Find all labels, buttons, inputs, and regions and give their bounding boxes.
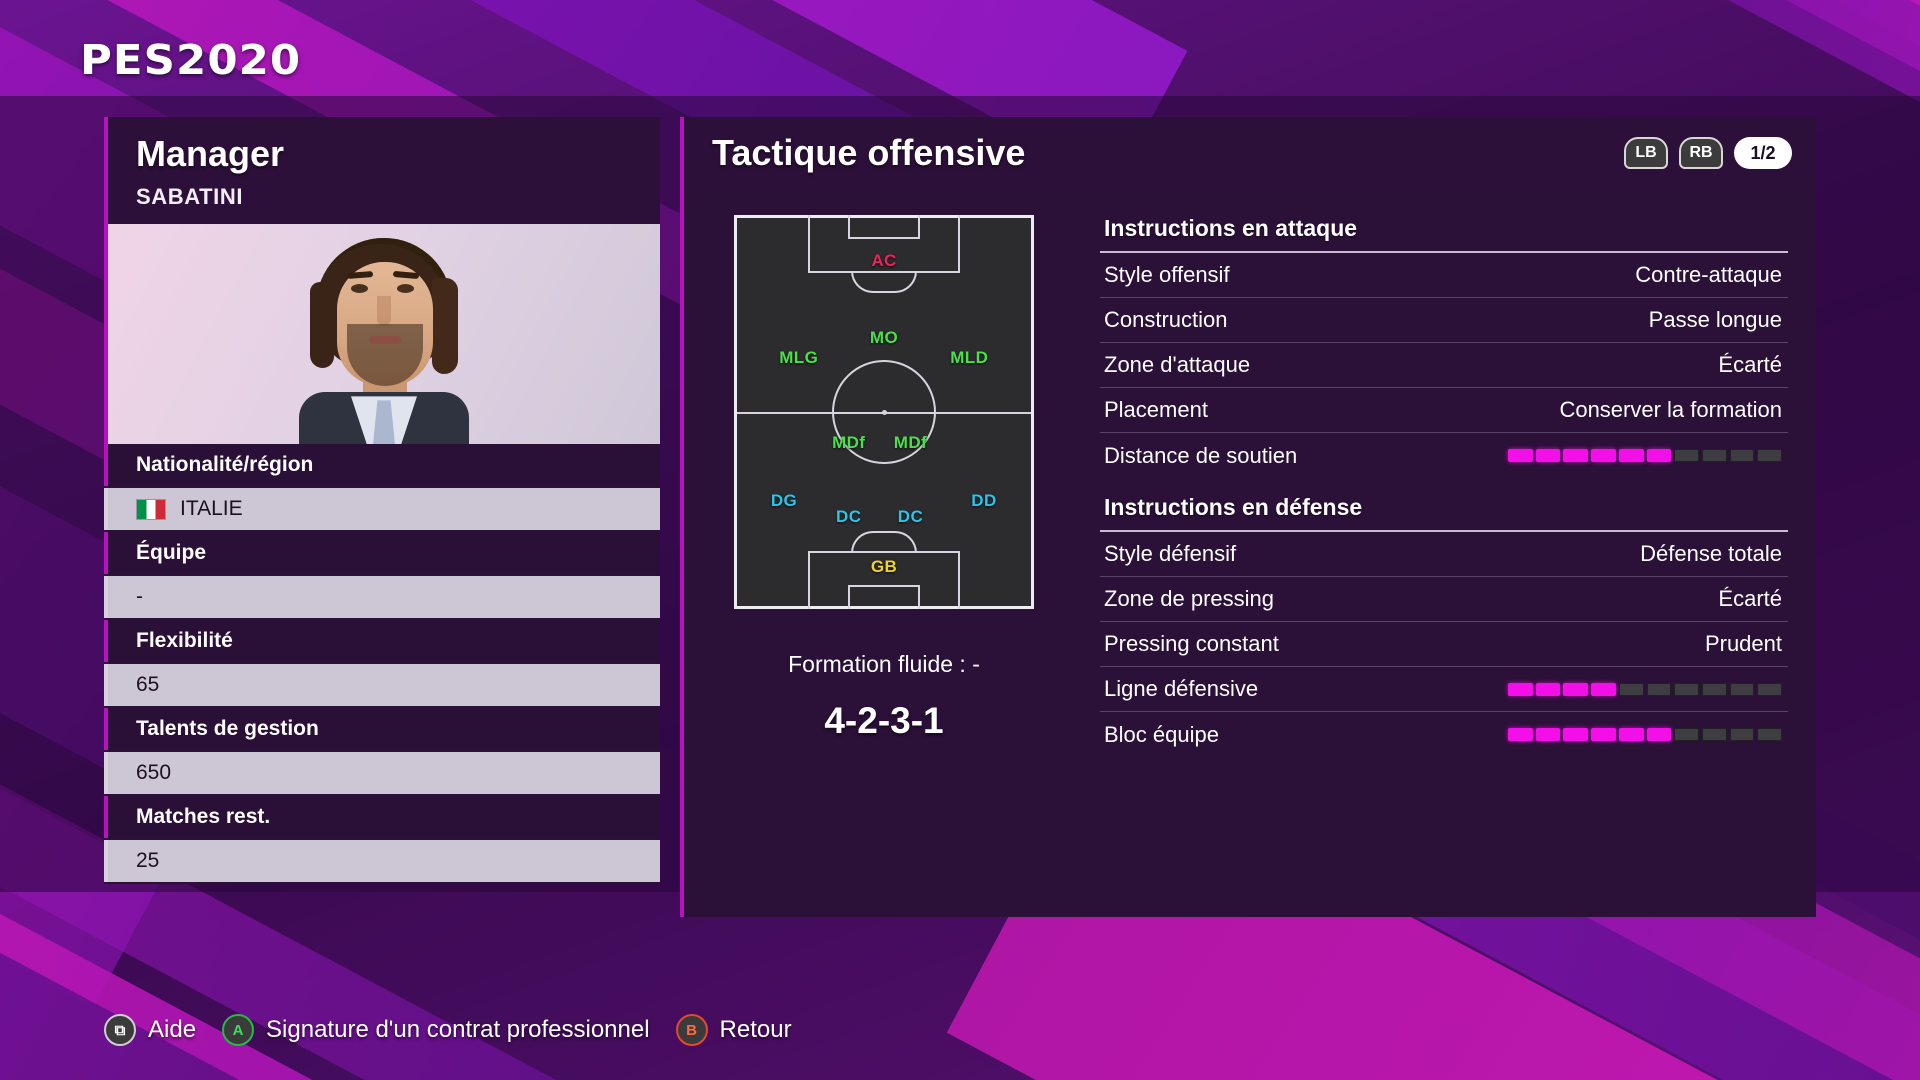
attribute-value: 650 <box>104 752 660 794</box>
instruction-row[interactable]: PlacementConserver la formation <box>1100 388 1788 433</box>
footer-action-label[interactable]: Signature d'un contrat professionnel <box>266 1016 650 1044</box>
attribute-label: Équipe <box>104 532 660 574</box>
mouth-shape <box>369 336 401 344</box>
footer-a-button-icon[interactable]: A <box>222 1014 254 1046</box>
manager-panel: Manager SABATINI Nationalité/régionITALI… <box>104 117 660 884</box>
pitch-penalty-arc-bottom <box>851 531 917 553</box>
gauge-segment <box>1619 683 1644 696</box>
gauge-segment <box>1536 449 1561 462</box>
attribute-value: 65 <box>104 664 660 706</box>
instruction-value: Contre-attaque <box>1635 262 1782 288</box>
eye-right <box>397 284 414 293</box>
attribute-label: Nationalité/région <box>104 444 660 486</box>
instruction-gauge[interactable] <box>1508 683 1782 696</box>
attribute-label: Flexibilité <box>104 620 660 662</box>
instruction-gauge[interactable] <box>1508 449 1782 462</box>
instruction-row[interactable]: Distance de soutien <box>1100 433 1788 478</box>
gauge-segment <box>1591 449 1616 462</box>
attribute-value: - <box>104 576 660 618</box>
manager-name: SABATINI <box>108 174 660 214</box>
portrait-figure <box>289 228 479 444</box>
instruction-label: Style offensif <box>1104 262 1230 288</box>
gauge-segment <box>1591 683 1616 696</box>
attribute-value-text: - <box>136 585 143 609</box>
footer-action-label[interactable]: Retour <box>720 1016 792 1044</box>
gauge-segment <box>1563 449 1588 462</box>
instruction-row[interactable]: Ligne défensive <box>1100 667 1788 712</box>
nose-shape <box>377 296 391 326</box>
instructions-column: Instructions en attaque Style offensifCo… <box>1084 189 1816 917</box>
tactics-page-controls: LB RB 1/2 <box>1624 137 1792 169</box>
tactics-panel-title: Tactique offensive <box>712 132 1624 174</box>
instruction-row[interactable]: Style défensifDéfense totale <box>1100 532 1788 577</box>
pitch-goal-box-top <box>848 215 920 239</box>
bumper-lb-button[interactable]: LB <box>1624 137 1668 169</box>
gauge-segment <box>1619 728 1644 741</box>
position-marker-dg[interactable]: DG <box>771 491 797 511</box>
position-marker-mo[interactable]: MO <box>870 328 898 348</box>
gauge-segment <box>1757 728 1782 741</box>
attack-instruction-rows: Style offensifContre-attaqueConstruction… <box>1100 253 1788 478</box>
attribute-value: ITALIE <box>104 488 660 530</box>
tactics-panel-header: Tactique offensive LB RB 1/2 <box>684 117 1816 189</box>
position-marker-dd[interactable]: DD <box>971 491 996 511</box>
gauge-segment <box>1508 683 1533 696</box>
fluid-formation-label: Formation fluide : - <box>788 651 980 678</box>
defense-instruction-rows: Style défensifDéfense totaleZone de pres… <box>1100 532 1788 757</box>
manager-panel-header: Manager SABATINI <box>104 117 660 224</box>
instruction-value: Défense totale <box>1640 541 1782 567</box>
instruction-row[interactable]: Zone de pressingÉcarté <box>1100 577 1788 622</box>
gauge-segment <box>1647 683 1672 696</box>
gauge-segment <box>1702 728 1727 741</box>
bumper-rb-button[interactable]: RB <box>1679 137 1723 169</box>
gauge-segment <box>1536 683 1561 696</box>
gauge-segment <box>1508 449 1533 462</box>
defense-section-title: Instructions en défense <box>1100 490 1788 532</box>
footer-action-label[interactable]: Aide <box>148 1016 196 1044</box>
position-marker-mld[interactable]: MLD <box>950 348 988 368</box>
instruction-label: Placement <box>1104 397 1208 423</box>
tactics-panel-body: ACMOMLGMLDMDfMDfDGDCDCDDGB Formation flu… <box>684 189 1816 917</box>
formation-pitch[interactable]: ACMOMLGMLDMDfMDfDGDCDCDDGB <box>734 215 1034 609</box>
formation-name: 4-2-3-1 <box>824 700 943 742</box>
attribute-label: Matches rest. <box>104 796 660 838</box>
instruction-label: Pressing constant <box>1104 631 1279 657</box>
pitch-penalty-arc-top <box>851 271 917 293</box>
pitch-goal-box-bottom <box>848 585 920 609</box>
instruction-row[interactable]: ConstructionPasse longue <box>1100 298 1788 343</box>
manager-attribute-list: Nationalité/régionITALIEÉquipe-Flexibili… <box>104 444 660 882</box>
gauge-segment <box>1647 728 1672 741</box>
instruction-value: Prudent <box>1705 631 1782 657</box>
gauge-segment <box>1757 683 1782 696</box>
gauge-segment <box>1730 683 1755 696</box>
instruction-row[interactable]: Pressing constantPrudent <box>1100 622 1788 667</box>
attribute-value-text: 650 <box>136 761 171 785</box>
position-marker-mdf[interactable]: MDf <box>894 433 927 453</box>
gauge-segment <box>1674 728 1699 741</box>
gauge-segment <box>1619 449 1644 462</box>
gauge-segment <box>1563 683 1588 696</box>
position-marker-dc[interactable]: DC <box>898 507 923 527</box>
instruction-gauge[interactable] <box>1508 728 1782 741</box>
position-marker-gb[interactable]: GB <box>871 557 897 577</box>
tactics-panel: Tactique offensive LB RB 1/2 <box>680 117 1816 917</box>
instruction-label: Zone de pressing <box>1104 586 1274 612</box>
attribute-value-text: 25 <box>136 849 159 873</box>
instruction-label: Bloc équipe <box>1104 722 1219 748</box>
gauge-segment <box>1730 728 1755 741</box>
eye-left <box>351 284 368 293</box>
instruction-value: Conserver la formation <box>1559 397 1782 423</box>
italy-flag-icon <box>136 499 166 520</box>
footer-b-button-icon[interactable]: B <box>676 1014 708 1046</box>
position-marker-mlg[interactable]: MLG <box>779 348 818 368</box>
gauge-segment <box>1730 449 1755 462</box>
gauge-segment <box>1591 728 1616 741</box>
position-marker-dc[interactable]: DC <box>836 507 861 527</box>
instruction-value: Écarté <box>1718 586 1782 612</box>
instruction-value: Passe longue <box>1649 307 1782 333</box>
position-marker-mdf[interactable]: MDf <box>832 433 865 453</box>
footer-window-button-icon[interactable]: ⧉ <box>104 1014 136 1046</box>
pitch-center-spot <box>882 410 887 415</box>
manager-panel-title: Manager <box>108 133 660 174</box>
attribute-value-text: ITALIE <box>180 497 243 521</box>
attribute-value-text: 65 <box>136 673 159 697</box>
instruction-label: Ligne défensive <box>1104 676 1258 702</box>
instruction-row[interactable]: Bloc équipe <box>1100 712 1788 757</box>
pes-logo: PES2020 <box>80 36 301 84</box>
footer-hints: ⧉AideASignature d'un contrat professionn… <box>104 1014 806 1046</box>
gauge-segment <box>1563 728 1588 741</box>
gauge-segment <box>1702 683 1727 696</box>
formation-column: ACMOMLGMLDMDfMDfDGDCDCDDGB Formation flu… <box>684 189 1084 917</box>
position-marker-ac[interactable]: AC <box>871 251 896 271</box>
manager-portrait <box>104 224 660 444</box>
page-indicator: 1/2 <box>1734 137 1792 169</box>
gauge-segment <box>1702 449 1727 462</box>
instruction-row[interactable]: Style offensifContre-attaque <box>1100 253 1788 298</box>
gauge-segment <box>1508 728 1533 741</box>
gauge-segment <box>1674 683 1699 696</box>
pes-manager-screen: PES2020 Manager SABATINI <box>0 0 1920 1080</box>
attribute-value: 25 <box>104 840 660 882</box>
instruction-label: Style défensif <box>1104 541 1236 567</box>
gauge-segment <box>1757 449 1782 462</box>
attack-section-title: Instructions en attaque <box>1100 211 1788 253</box>
gauge-segment <box>1536 728 1561 741</box>
instruction-row[interactable]: Zone d'attaqueÉcarté <box>1100 343 1788 388</box>
gauge-segment <box>1674 449 1699 462</box>
instruction-label: Zone d'attaque <box>1104 352 1250 378</box>
instruction-label: Distance de soutien <box>1104 443 1297 469</box>
gauge-segment <box>1647 449 1672 462</box>
instruction-label: Construction <box>1104 307 1228 333</box>
attribute-label: Talents de gestion <box>104 708 660 750</box>
instruction-value: Écarté <box>1718 352 1782 378</box>
